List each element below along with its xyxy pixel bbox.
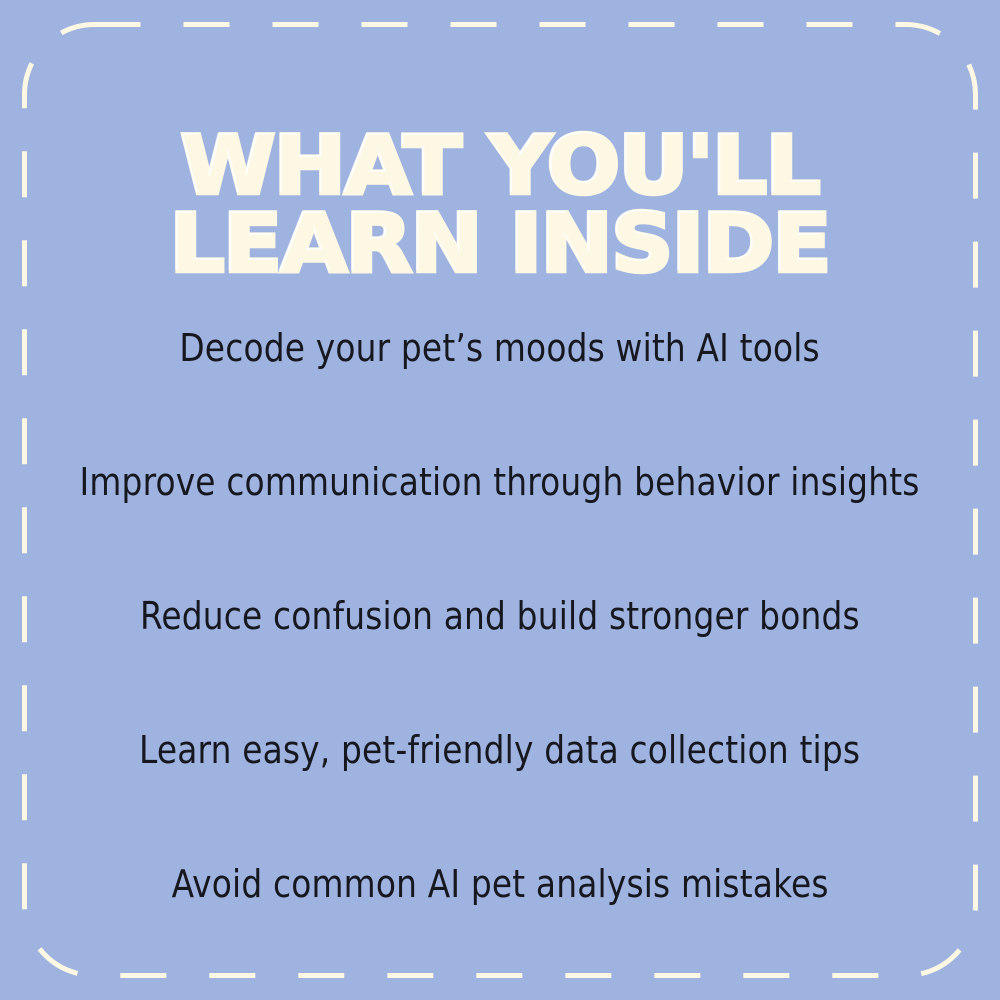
list-item-label: Decode your pet’s moods with AI tools: [180, 328, 821, 370]
page-title-line-2: LEARN INSIDE: [0, 210, 1000, 279]
list-item-label: Avoid common AI pet analysis mistakes: [171, 864, 828, 906]
list-item: Learn easy, pet-friendly data collection…: [0, 684, 1000, 818]
learning-points-list: Decode your pet’s moods with AI tools Im…: [0, 282, 1000, 952]
list-item: Avoid common AI pet analysis mistakes: [0, 818, 1000, 952]
slide-canvas: WHAT YOU'LL LEARN INSIDE Decode your pet…: [0, 0, 1000, 1000]
list-item: Reduce confusion and build stronger bond…: [0, 550, 1000, 684]
list-item-label: Learn easy, pet-friendly data collection…: [139, 730, 860, 772]
list-item: Decode your pet’s moods with AI tools: [0, 282, 1000, 416]
list-item-label: Improve communication through behavior i…: [80, 462, 920, 504]
list-item-label: Reduce confusion and build stronger bond…: [140, 596, 860, 638]
page-title: WHAT YOU'LL LEARN INSIDE: [0, 132, 1000, 280]
list-item: Improve communication through behavior i…: [0, 416, 1000, 550]
page-title-line-1: WHAT YOU'LL: [0, 132, 1000, 201]
